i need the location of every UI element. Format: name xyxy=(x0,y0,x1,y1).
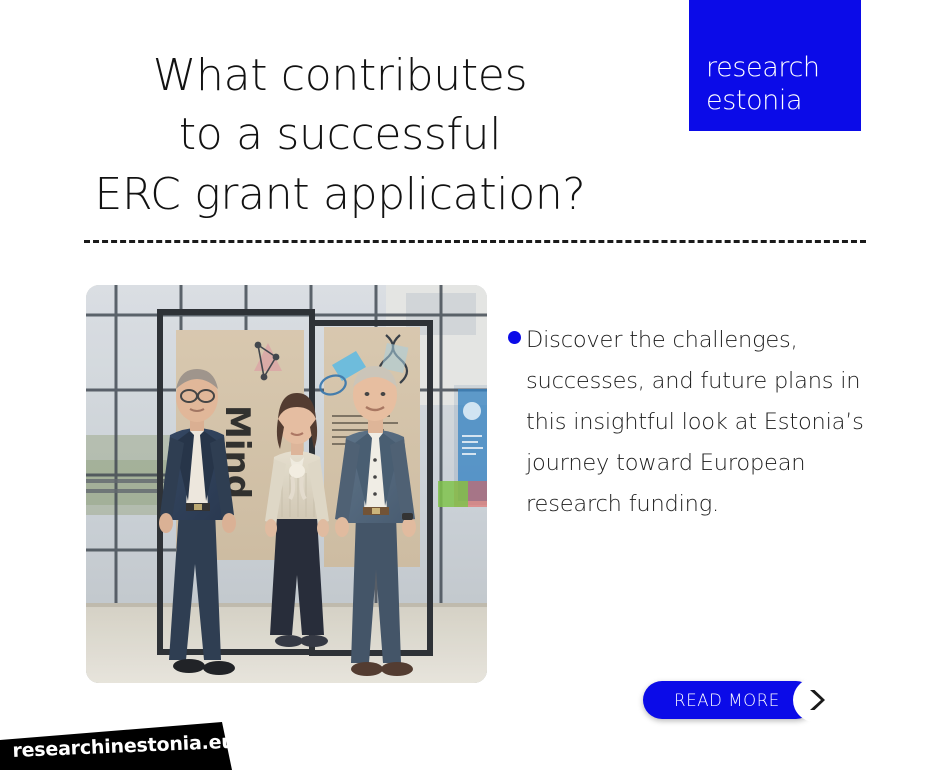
photo-illustration: Mind xyxy=(86,285,487,683)
description-block: Discover the challenges, successes, and … xyxy=(508,320,908,525)
dashed-divider xyxy=(84,240,866,243)
description-text: Discover the challenges, successes, and … xyxy=(526,320,891,525)
logo-wordmark: research estonia xyxy=(706,52,820,118)
read-more-arrow-button[interactable] xyxy=(793,678,837,722)
research-estonia-logo[interactable]: research estonia xyxy=(689,0,861,131)
chevron-right-icon xyxy=(805,688,825,712)
event-photo: Mind xyxy=(86,285,487,683)
page-title: What contributes to a successful ERC gra… xyxy=(0,46,680,224)
bullet-point-icon xyxy=(508,331,521,344)
website-banner[interactable]: researchinestonia.eu xyxy=(0,712,245,770)
read-more-button[interactable]: READ MORE xyxy=(643,681,815,719)
read-more-label: READ MORE xyxy=(674,691,784,710)
